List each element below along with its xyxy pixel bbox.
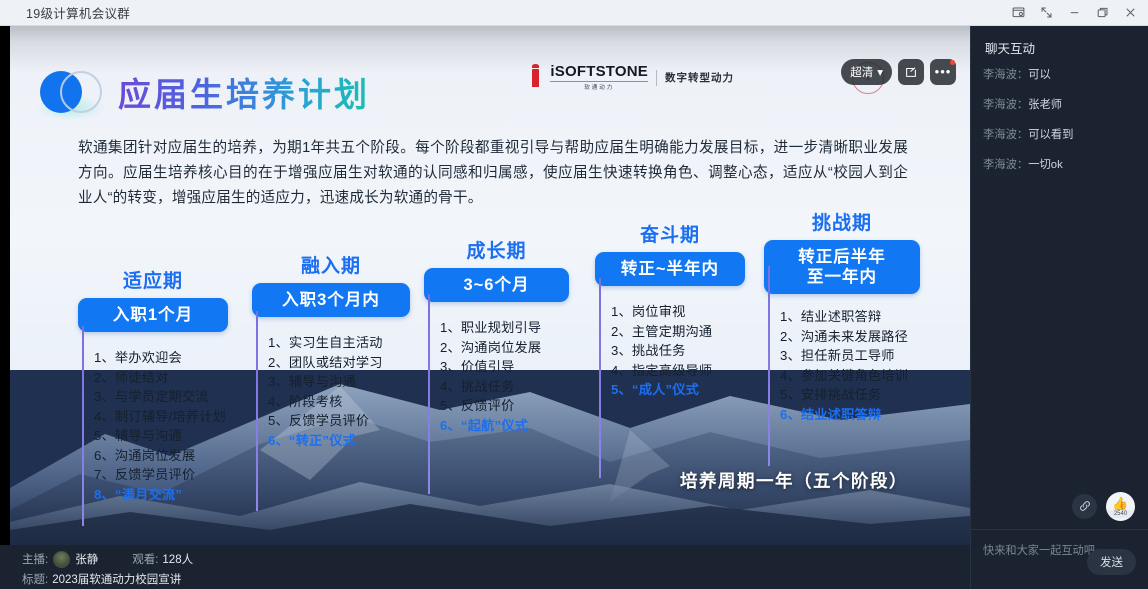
- list-item: 2、沟通未来发展路径: [780, 327, 920, 347]
- chat-message-user: 李海波：: [983, 99, 1028, 111]
- stage-list-5: 1、结业述职答辩 2、沟通未来发展路径 3、担任新员工导师 4、参加关键角色培训…: [764, 307, 920, 424]
- topic-label: 标题:: [22, 572, 48, 588]
- list-item: 1、岗位审视: [611, 302, 745, 322]
- host-label: 主播:: [22, 552, 48, 568]
- chat-message: 李海波：张老师: [983, 97, 1136, 114]
- list-item: 5、反馈学员评价: [268, 411, 410, 431]
- list-item: 2、师徒结对: [94, 368, 228, 388]
- viewers-label: 观看:: [132, 552, 158, 568]
- chat-message-text: 可以: [1028, 69, 1051, 81]
- player-controls: 超清 ▾ •••: [841, 59, 956, 85]
- list-item: 2、团队或结对学习: [268, 353, 410, 373]
- list-item: 1、举办欢迎会: [94, 348, 228, 368]
- stage-head-5: 挑战期: [764, 208, 920, 235]
- list-item: 6、“转正”仪式: [268, 431, 410, 451]
- quality-label: 超清: [850, 64, 873, 80]
- stage-stem-2: [256, 311, 258, 511]
- chat-message-user: 李海波：: [983, 159, 1028, 171]
- stage-list-2: 1、实习生自主活动 2、团队或结对学习 3、辅导与沟通 4、阶段考核 5、反馈学…: [252, 333, 410, 450]
- close-icon[interactable]: [1116, 0, 1144, 26]
- stage-list-1: 1、举办欢迎会 2、师徒结对 3、与学员定期交流 4、制订辅导/培养计划 5、辅…: [78, 348, 228, 504]
- brand-tagline: 数字转型动力: [665, 70, 734, 85]
- list-item: 4、阶段考核: [268, 392, 410, 412]
- stage-chip-3: 3~6个月: [424, 268, 569, 302]
- video-stage[interactable]: 应届生培养计划 软通集团针对应届生的培养，为期1年共五个阶段。每个阶段都重视引导…: [0, 26, 970, 545]
- link-icon[interactable]: [1072, 494, 1097, 519]
- notification-dot: [950, 60, 955, 65]
- list-item: 2、沟通岗位发展: [440, 338, 569, 358]
- brand-name: iSOFTSTONE: [550, 64, 648, 79]
- list-item: 5、安排挑战任务: [780, 385, 920, 405]
- chat-message-text: 可以看到: [1028, 129, 1073, 141]
- stage-stem-3: [428, 294, 430, 494]
- stage-stem-5: [768, 266, 770, 466]
- host-name: 张静: [75, 552, 98, 568]
- chat-message-text: 一切ok: [1028, 159, 1063, 171]
- screen-share-icon[interactable]: [1004, 0, 1032, 26]
- avatar: [53, 551, 70, 568]
- list-item: 4、参加关键角色培训: [780, 366, 920, 386]
- chevron-down-icon: ▾: [877, 65, 883, 79]
- stage-stem-4: [599, 278, 601, 478]
- list-item: 4、制订辅导/培养计划: [94, 407, 228, 427]
- logo-mark-icon: [532, 69, 542, 87]
- list-item: 6、“起航”仪式: [440, 416, 569, 436]
- list-item: 5、反馈评价: [440, 396, 569, 416]
- chat-panel: 聊天互动 李海波：可以 李海波：张老师 李海波：可以看到 李海波：一切ok: [970, 26, 1148, 589]
- list-item: 6、结业述职答辩: [780, 405, 920, 425]
- stage-stem-1: [82, 326, 84, 526]
- minimize-corner-icon[interactable]: [1032, 0, 1060, 26]
- stage-head-2: 融入期: [252, 251, 410, 278]
- presentation-slide: 应届生培养计划 软通集团针对应届生的培养，为期1年共五个阶段。每个阶段都重视引导…: [10, 26, 970, 545]
- chat-message-list[interactable]: 李海波：可以 李海波：张老师 李海波：可以看到 李海波：一切ok: [971, 67, 1148, 483]
- list-item: 4、指定高级导师: [611, 361, 745, 381]
- list-item: 6、沟通岗位发展: [94, 446, 228, 466]
- more-icon[interactable]: •••: [930, 59, 956, 85]
- chat-panel-title: 聊天互动: [971, 26, 1148, 67]
- list-item: 8、“满月交流”: [94, 485, 228, 505]
- viewers-count: 128人: [162, 552, 193, 568]
- stage-column-2: 融入期 入职3个月内 1、实习生自主活动 2、团队或结对学习 3、辅导与沟通 4…: [252, 251, 410, 450]
- stage-chip-4: 转正~半年内: [595, 252, 745, 286]
- stage-chip-2: 入职3个月内: [252, 283, 410, 317]
- topic-row: 标题: 2023届软通动力校园宣讲: [22, 572, 970, 588]
- like-count: 2540: [1106, 510, 1135, 518]
- list-item: 5、“成人”仪式: [611, 380, 745, 400]
- chat-message-user: 李海波：: [983, 69, 1028, 81]
- minimize-icon[interactable]: [1060, 0, 1088, 26]
- window-title: 19级计算机会议群: [26, 3, 130, 22]
- stage-chip-5: 转正后半年 至一年内: [764, 240, 920, 294]
- list-item: 4、挑战任务: [440, 377, 569, 397]
- stage-column-4: 奋斗期 转正~半年内 1、岗位审视 2、主管定期沟通 3、挑战任务 4、指定高级…: [595, 220, 745, 400]
- stage-head-3: 成长期: [424, 236, 569, 263]
- brand-sub: 软通动力: [550, 81, 648, 91]
- live-streaming-window: 19级计算机会议群: [0, 0, 1148, 589]
- like-button[interactable]: 👍 2540: [1106, 492, 1135, 521]
- list-item: 3、担任新员工导师: [780, 346, 920, 366]
- chat-message: 李海波：可以: [983, 67, 1136, 84]
- stage-list-3: 1、职业规划引导 2、沟通岗位发展 3、价值引导 4、挑战任务 5、反馈评价 6…: [424, 318, 569, 435]
- host-row: 主播: 张静 观看: 128人: [22, 551, 970, 568]
- stage-column-5: 挑战期 转正后半年 至一年内 1、结业述职答辩 2、沟通未来发展路径 3、担任新…: [764, 208, 920, 424]
- list-item: 3、挑战任务: [611, 341, 745, 361]
- list-item: 1、职业规划引导: [440, 318, 569, 338]
- chat-action-bar: 👍 2540: [971, 483, 1148, 529]
- send-button[interactable]: 发送: [1087, 549, 1136, 575]
- stage-head-4: 奋斗期: [595, 220, 745, 247]
- list-item: 3、与学员定期交流: [94, 387, 228, 407]
- topic-value: 2023届软通动力校园宣讲: [52, 572, 181, 588]
- list-item: 2、主管定期沟通: [611, 322, 745, 342]
- chat-input-row: 快来和大家一起互动吧 发送: [971, 529, 1148, 589]
- list-item: 1、结业述职答辩: [780, 307, 920, 327]
- chat-message-text: 张老师: [1028, 99, 1062, 111]
- thumbs-up-icon: 👍: [1112, 498, 1128, 510]
- stage-column-1: 适应期 入职1个月 1、举办欢迎会 2、师徒结对 3、与学员定期交流 4、制订辅…: [78, 266, 228, 504]
- chat-message-user: 李海波：: [983, 129, 1028, 141]
- list-item: 3、价值引导: [440, 357, 569, 377]
- chat-message: 李海波：可以看到: [983, 127, 1136, 144]
- stage-columns: 适应期 入职1个月 1、举办欢迎会 2、师徒结对 3、与学员定期交流 4、制订辅…: [10, 26, 970, 545]
- list-item: 1、实习生自主活动: [268, 333, 410, 353]
- chat-message: 李海波：一切ok: [983, 157, 1136, 174]
- stage-list-4: 1、岗位审视 2、主管定期沟通 3、挑战任务 4、指定高级导师 5、“成人”仪式: [595, 302, 745, 400]
- list-item: 5、辅导与沟通: [94, 426, 228, 446]
- isoftstone-logo: iSOFTSTONE 软通动力 数字转型动力: [532, 64, 734, 91]
- list-item: 7、反馈学员评价: [94, 465, 228, 485]
- logo-divider: [656, 70, 657, 86]
- quality-selector[interactable]: 超清 ▾: [841, 59, 892, 85]
- fullscreen-icon[interactable]: [898, 59, 924, 85]
- window-titlebar: 19级计算机会议群: [0, 0, 1148, 26]
- stream-info-bar: 主播: 张静 观看: 128人 标题: 2023届软通动力校园宣讲: [0, 545, 970, 589]
- list-item: 3、辅导与沟通: [268, 372, 410, 392]
- stage-column-3: 成长期 3~6个月 1、职业规划引导 2、沟通岗位发展 3、价值引导 4、挑战任…: [424, 236, 569, 435]
- maximize-icon[interactable]: [1088, 0, 1116, 26]
- stage-head-1: 适应期: [78, 266, 228, 293]
- stage-chip-1: 入职1个月: [78, 298, 228, 332]
